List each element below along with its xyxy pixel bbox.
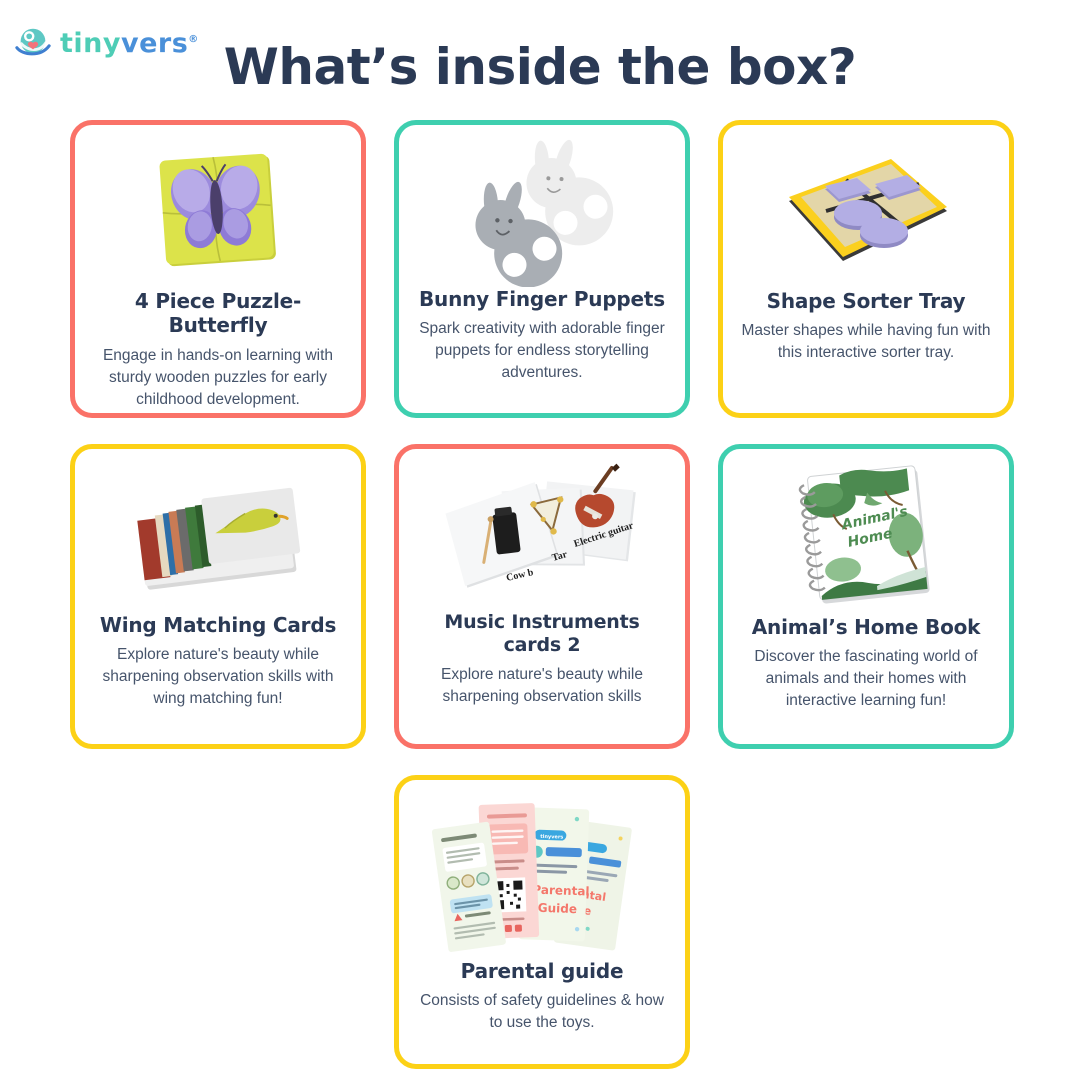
grid-spacer — [70, 775, 366, 776]
card-title: Wing Matching Cards — [100, 613, 336, 637]
music-instruments-cards-image: Cow b Tar Electric guitar — [415, 463, 669, 611]
card-description: Explore nature's beauty while sharpening… — [91, 644, 345, 710]
product-card-music-instruments-cards[interactable]: Cow b Tar Electric guitar Music Instrume… — [394, 444, 690, 749]
card-title: Bunny Finger Puppets — [419, 287, 665, 311]
wooden-butterfly-puzzle-image — [91, 139, 345, 289]
brochure-title-line2: Guide — [538, 901, 578, 916]
card-description: Master shapes while having fun with this… — [739, 320, 993, 364]
bunny-finger-puppets-image — [415, 139, 669, 287]
card-title: Parental guide — [461, 959, 624, 983]
page-title: What’s inside the box? — [0, 38, 1080, 96]
product-card-animals-home-book[interactable]: Animal's Home — [718, 444, 1014, 749]
product-card-puzzle-butterfly[interactable]: 4 Piece Puzzle-Butterfly Engage in hands… — [70, 120, 366, 418]
card-title: 4 Piece Puzzle-Butterfly — [91, 289, 345, 338]
card-description: Spark creativity with adorable finger pu… — [415, 318, 669, 384]
product-card-wing-matching-cards[interactable]: Wing Matching Cards Explore nature's bea… — [70, 444, 366, 749]
svg-text:tinyvers: tinyvers — [540, 834, 563, 841]
card-title: Music Instruments cards 2 — [415, 611, 669, 657]
animals-home-book-image: Animal's Home — [739, 463, 993, 615]
card-description: Consists of safety guidelines & how to u… — [415, 990, 669, 1034]
parental-guide-brochures-image: ental ide tinyvers Parental — [415, 794, 669, 959]
card-description: Explore nature's beauty while sharpening… — [415, 664, 669, 708]
brochure-title-line1: Parental — [532, 883, 590, 899]
card-title: Animal’s Home Book — [752, 615, 981, 639]
product-card-shape-sorter-tray[interactable]: Shape Sorter Tray Master shapes while ha… — [718, 120, 1014, 418]
card-description: Engage in hands-on learning with sturdy … — [91, 345, 345, 411]
shape-sorter-tray-image — [739, 139, 993, 289]
product-card-bunny-finger-puppets[interactable]: Bunny Finger Puppets Spark creativity wi… — [394, 120, 690, 418]
card-description: Discover the fascinating world of animal… — [739, 646, 993, 712]
product-card-parental-guide[interactable]: ental ide tinyvers Parental — [394, 775, 690, 1069]
poster-root: tinyvers® What’s inside the box? — [0, 0, 1080, 1080]
wing-matching-cards-image — [91, 463, 345, 613]
card-title: Shape Sorter Tray — [767, 289, 966, 313]
product-card-grid: 4 Piece Puzzle-Butterfly Engage in hands… — [70, 120, 1015, 1069]
